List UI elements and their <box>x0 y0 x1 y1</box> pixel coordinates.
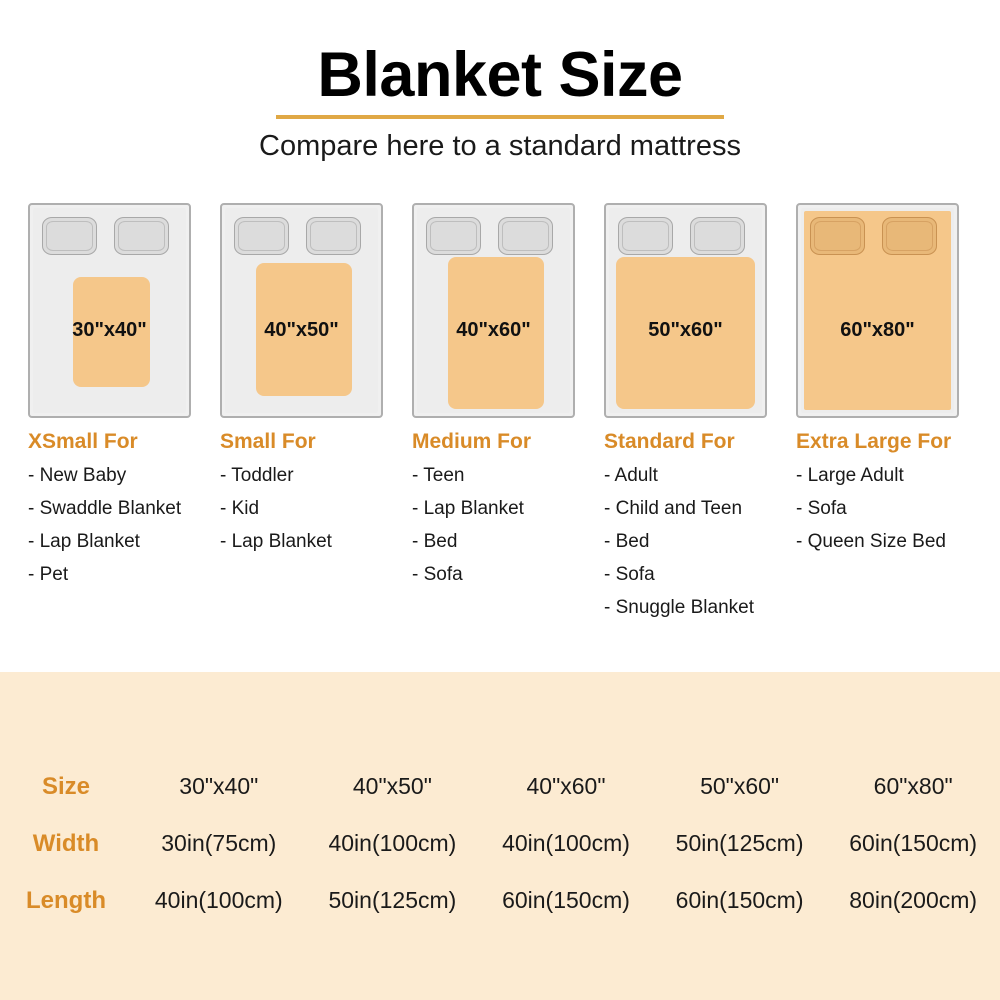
page-title: Blanket Size <box>317 44 682 107</box>
blanket-size-label: 40"x50" <box>222 319 381 342</box>
blanket-size-label: 60"x80" <box>798 319 957 342</box>
table-row: Size 30"x40" 40"x50" 40"x60" 50"x60" 60"… <box>0 758 1000 815</box>
mattress-outline: 40"x50" <box>220 203 383 418</box>
pillow-icon <box>498 217 553 255</box>
category-title: Medium For <box>412 430 602 454</box>
table-cell: 60in(150cm) <box>653 887 827 914</box>
category-list-item: - Lap Blanket <box>28 531 218 553</box>
category-list-item: - Adult <box>604 465 794 487</box>
table-cell: 30in(75cm) <box>132 830 306 857</box>
category-column-extra-large: Extra Large For - Large Adult - Sofa - Q… <box>796 430 986 630</box>
table-row: Length 40in(100cm) 50in(125cm) 60in(150c… <box>0 872 1000 929</box>
blanket-size-label: 30"x40" <box>30 319 189 342</box>
bed-diagram-standard: 50"x60" <box>604 203 794 418</box>
table-cell: 60in(150cm) <box>479 887 653 914</box>
table-cell: 60in(150cm) <box>826 830 1000 857</box>
category-list-item: - Lap Blanket <box>412 498 602 520</box>
category-list-item: - Sofa <box>796 498 986 520</box>
table-row-label: Length <box>0 887 132 915</box>
pillow-icon <box>234 217 289 255</box>
category-column-small: Small For - Toddler - Kid - Lap Blanket <box>220 430 410 630</box>
table-row-label: Width <box>0 830 132 858</box>
pillow-icon <box>42 217 97 255</box>
category-list-item: - Lap Blanket <box>220 531 410 553</box>
pillow-icon <box>306 217 361 255</box>
table-cell: 40in(100cm) <box>306 830 480 857</box>
bed-diagram-row: 30"x40" 40"x50" 40"x60" 50"x60" <box>0 203 1000 418</box>
table-cell: 40in(100cm) <box>132 887 306 914</box>
page-header: Blanket Size Compare here to a standard … <box>0 0 1000 163</box>
table-cell: 50"x60" <box>653 773 827 800</box>
bed-diagram-small: 40"x50" <box>220 203 410 418</box>
title-underline-rule <box>276 115 724 119</box>
category-list-item: - Bed <box>604 531 794 553</box>
table-cell: 50in(125cm) <box>653 830 827 857</box>
category-column-xsmall: XSmall For - New Baby - Swaddle Blanket … <box>28 430 218 630</box>
pillow-icon <box>810 217 865 255</box>
page-subtitle: Compare here to a standard mattress <box>0 130 1000 163</box>
table-cell: 80in(200cm) <box>826 887 1000 914</box>
mattress-outline: 50"x60" <box>604 203 767 418</box>
category-column-standard: Standard For - Adult - Child and Teen - … <box>604 430 794 630</box>
bed-diagram-extra-large: 60"x80" <box>796 203 986 418</box>
table-cell: 40in(100cm) <box>479 830 653 857</box>
category-list-item: - Kid <box>220 498 410 520</box>
pillow-icon <box>618 217 673 255</box>
pillow-icon <box>114 217 169 255</box>
category-list-item: - Snuggle Blanket <box>604 597 794 619</box>
table-row: Width 30in(75cm) 40in(100cm) 40in(100cm)… <box>0 815 1000 872</box>
category-list-item: - Large Adult <box>796 465 986 487</box>
blanket-size-label: 40"x60" <box>414 319 573 342</box>
category-column-medium: Medium For - Teen - Lap Blanket - Bed - … <box>412 430 602 630</box>
category-list-item: - Teen <box>412 465 602 487</box>
bed-diagram-xsmall: 30"x40" <box>28 203 218 418</box>
blanket-size-label: 50"x60" <box>606 319 765 342</box>
category-list-item: - Child and Teen <box>604 498 794 520</box>
pillow-icon <box>882 217 937 255</box>
table-cell: 60"x80" <box>826 773 1000 800</box>
category-list-item: - Sofa <box>412 564 602 586</box>
category-list-item: - Swaddle Blanket <box>28 498 218 520</box>
table-cell: 40"x60" <box>479 773 653 800</box>
category-title: Small For <box>220 430 410 454</box>
table-row-label: Size <box>0 773 132 801</box>
bed-diagram-medium: 40"x60" <box>412 203 602 418</box>
pillow-icon <box>690 217 745 255</box>
table-cell: 50in(125cm) <box>306 887 480 914</box>
mattress-outline: 60"x80" <box>796 203 959 418</box>
category-title: Extra Large For <box>796 430 986 454</box>
pillow-icon <box>426 217 481 255</box>
mattress-outline: 40"x60" <box>412 203 575 418</box>
spec-table-panel: Size 30"x40" 40"x50" 40"x60" 50"x60" 60"… <box>0 672 1000 1000</box>
category-title: Standard For <box>604 430 794 454</box>
category-title: XSmall For <box>28 430 218 454</box>
mattress-outline: 30"x40" <box>28 203 191 418</box>
category-list-item: - New Baby <box>28 465 218 487</box>
category-list-item: - Toddler <box>220 465 410 487</box>
category-list-item: - Sofa <box>604 564 794 586</box>
table-cell: 30"x40" <box>132 773 306 800</box>
spec-table: Size 30"x40" 40"x50" 40"x60" 50"x60" 60"… <box>0 758 1000 929</box>
category-list-item: - Bed <box>412 531 602 553</box>
category-list-row: XSmall For - New Baby - Swaddle Blanket … <box>0 430 1000 630</box>
category-list-item: - Pet <box>28 564 218 586</box>
category-list-item: - Queen Size Bed <box>796 531 986 553</box>
table-cell: 40"x50" <box>306 773 480 800</box>
